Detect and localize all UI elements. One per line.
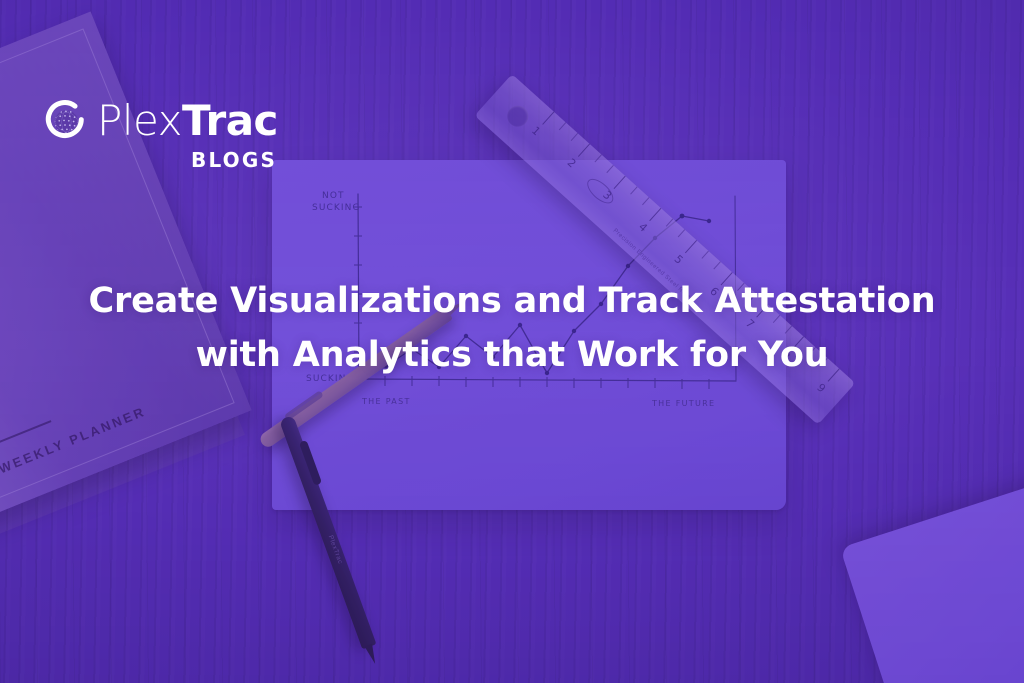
brand-name-part2: Trac: [182, 96, 278, 145]
brand-name-part1: Plex: [97, 96, 182, 145]
headline-line-1: Create Visualizations and Track Attestat…: [0, 275, 1024, 328]
page-title: Create Visualizations and Track Attestat…: [0, 275, 1024, 381]
headline-line-2: with Analytics that Work for You: [0, 329, 1024, 382]
banner-content: PlexTrac BLOGS Create Visualizations and…: [0, 0, 1024, 683]
blog-hero-banner: WEEKLY PLANNER: [0, 0, 1024, 683]
plextrac-wordmark: PlexTrac: [97, 100, 278, 142]
blogs-subtitle: BLOGS: [191, 148, 277, 172]
plextrac-circle-logo-icon: [42, 98, 88, 144]
plextrac-logo[interactable]: PlexTrac: [42, 98, 278, 144]
